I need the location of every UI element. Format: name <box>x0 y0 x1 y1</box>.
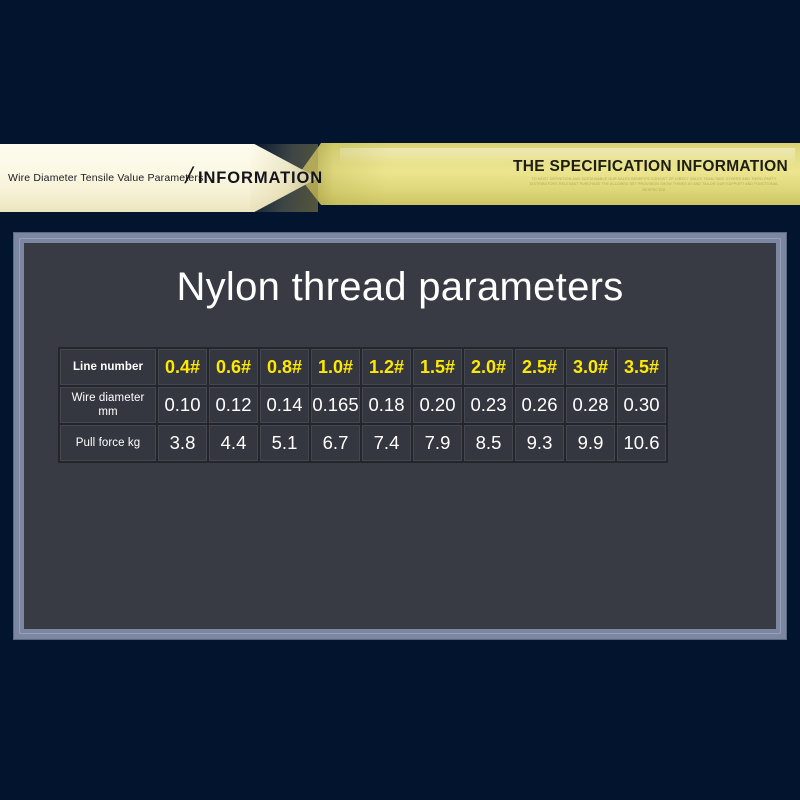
table-row: Pull force kg 3.8 4.4 5.1 6.7 7.4 7.9 8.… <box>60 425 666 461</box>
cell-wire-diameter: 0.28 <box>566 387 615 423</box>
banner-left-title: INFORMATION <box>198 169 323 188</box>
row-label-line-number: Line number <box>60 349 156 385</box>
cell-wire-diameter: 0.165 <box>311 387 360 423</box>
cell-line-number: 0.6# <box>209 349 258 385</box>
ribbon-banner: THE SPECIFICATION INFORMATION TO MOST DE… <box>0 132 800 218</box>
row-label-pull-force: Pull force kg <box>60 425 156 461</box>
cell-wire-diameter: 0.18 <box>362 387 411 423</box>
cell-pull-force: 8.5 <box>464 425 513 461</box>
cell-line-number: 1.2# <box>362 349 411 385</box>
row-label-wire-diameter: Wire diametermm <box>60 387 156 423</box>
cell-wire-diameter: 0.14 <box>260 387 309 423</box>
cell-line-number: 1.0# <box>311 349 360 385</box>
page-title: Nylon thread parameters <box>24 265 776 310</box>
cell-line-number: 0.8# <box>260 349 309 385</box>
cell-pull-force: 4.4 <box>209 425 258 461</box>
cell-line-number: 0.4# <box>158 349 207 385</box>
cell-pull-force: 9.3 <box>515 425 564 461</box>
cell-wire-diameter: 0.26 <box>515 387 564 423</box>
cell-line-number: 2.0# <box>464 349 513 385</box>
cell-pull-force: 9.9 <box>566 425 615 461</box>
cell-line-number: 2.5# <box>515 349 564 385</box>
cell-pull-force: 5.1 <box>260 425 309 461</box>
specification-table: Line number 0.4# 0.6# 0.8# 1.0# 1.2# 1.5… <box>58 347 668 463</box>
cell-line-number: 3.5# <box>617 349 666 385</box>
cell-wire-diameter: 0.12 <box>209 387 258 423</box>
cell-pull-force: 6.7 <box>311 425 360 461</box>
cell-wire-diameter: 0.10 <box>158 387 207 423</box>
cell-line-number: 1.5# <box>413 349 462 385</box>
banner-right-title: THE SPECIFICATION INFORMATION <box>513 158 788 176</box>
table-row: Wire diametermm 0.10 0.12 0.14 0.165 0.1… <box>60 387 666 423</box>
cell-wire-diameter: 0.20 <box>413 387 462 423</box>
cell-pull-force: 10.6 <box>617 425 666 461</box>
panel-frame: Nylon thread parameters Line number 0.4#… <box>14 233 786 639</box>
cell-line-number: 3.0# <box>566 349 615 385</box>
cell-pull-force: 7.9 <box>413 425 462 461</box>
cell-pull-force: 3.8 <box>158 425 207 461</box>
table-body: Line number 0.4# 0.6# 0.8# 1.0# 1.2# 1.5… <box>60 349 666 461</box>
banner-left-subtitle: Wire Diameter Tensile Value Parameters <box>8 172 204 184</box>
cell-pull-force: 7.4 <box>362 425 411 461</box>
banner-right-fine-print: TO MOST DEFINITION AND SUSTAINABLE OUR S… <box>520 177 788 193</box>
panel-interior: Nylon thread parameters Line number 0.4#… <box>24 243 776 629</box>
table-row: Line number 0.4# 0.6# 0.8# 1.0# 1.2# 1.5… <box>60 349 666 385</box>
cell-wire-diameter: 0.23 <box>464 387 513 423</box>
cell-wire-diameter: 0.30 <box>617 387 666 423</box>
